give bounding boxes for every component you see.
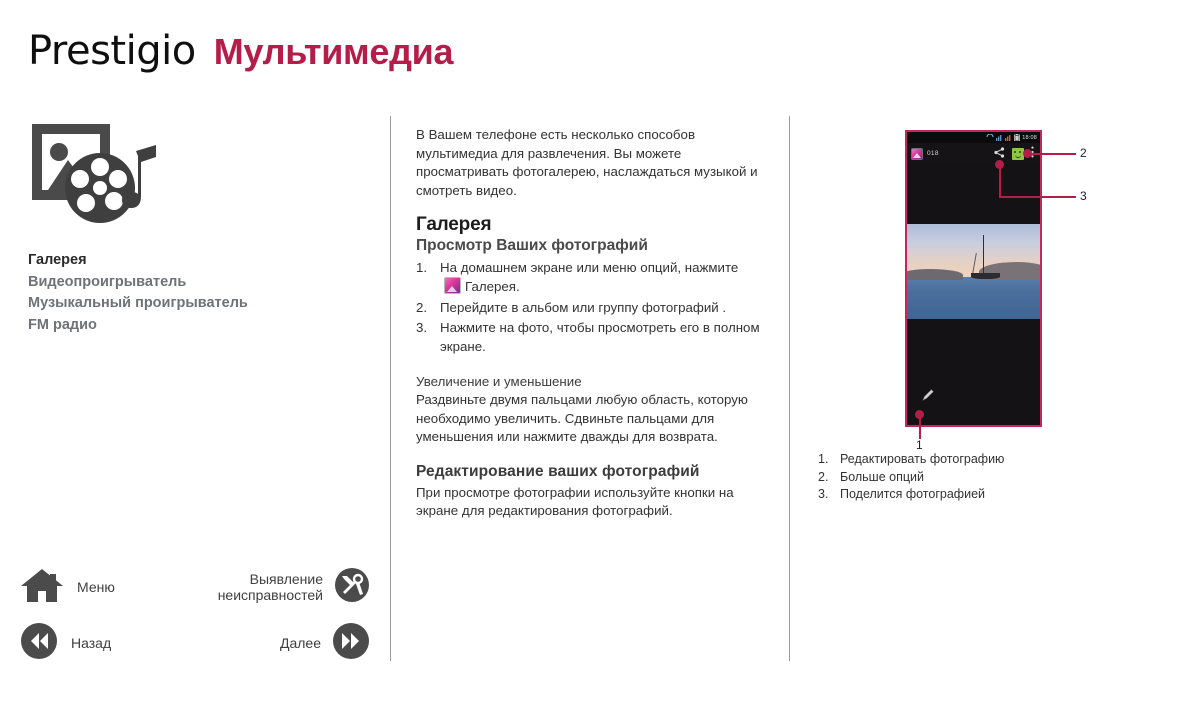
callout-line-2 — [1030, 153, 1076, 155]
signal-icon-2 — [1005, 134, 1012, 141]
next-button[interactable]: Далее — [195, 622, 370, 665]
gallery-icon — [444, 277, 461, 294]
legend-text: Поделится фотографией — [840, 487, 985, 501]
column-divider-right — [789, 116, 790, 661]
step-text-after: Галерея. — [465, 279, 520, 294]
battery-icon — [1014, 134, 1020, 141]
main-content-column: В Вашем телефоне есть несколько способов… — [416, 126, 761, 537]
legend-text: Редактировать фотографию — [840, 452, 1004, 466]
intro-paragraph: В Вашем телефоне есть несколько способов… — [416, 126, 761, 200]
step-number: 2. — [416, 299, 440, 318]
step-text: На домашнем экране или меню опций, нажми… — [440, 259, 761, 297]
step-text-before: На домашнем экране или меню опций, нажми… — [440, 260, 738, 275]
phone-status-bar: 18:08 — [907, 132, 1040, 143]
page-header: Prestigio Мультимедиа — [28, 28, 453, 74]
nav-row-bottom: Назад Далее — [20, 619, 370, 667]
troubleshooting-line2: неисправностей — [218, 587, 323, 603]
photo-viewer[interactable] — [907, 224, 1040, 319]
callout-line-3-vert — [999, 165, 1001, 197]
step-number: 3. — [416, 319, 440, 356]
album-label: 018 — [927, 150, 994, 157]
sync-icon — [986, 134, 994, 141]
edit-heading: Редактирование ваших фотографий — [416, 463, 761, 482]
phone-action-bar: 018 — [907, 143, 1040, 164]
callout-legend: 1. Редактировать фотографию 2. Больше оп… — [818, 452, 1148, 505]
list-item: 2. Больше опций — [818, 470, 1148, 484]
list-item: 3. Поделится фотографией — [818, 487, 1148, 501]
back-button[interactable]: Назад — [20, 622, 195, 665]
gallery-steps-list: 1. На домашнем экране или меню опций, на… — [416, 259, 761, 357]
list-item: 1. На домашнем экране или меню опций, на… — [416, 259, 761, 297]
photo-boat-mast — [983, 235, 984, 275]
page-root: Prestigio Мультимедиа — [0, 0, 1189, 713]
status-time: 18:08 — [1022, 135, 1037, 141]
multimedia-icon — [28, 118, 178, 230]
home-icon — [20, 566, 64, 609]
zoom-paragraph: Раздвиньте двумя пальцами любую область,… — [416, 391, 761, 447]
callout-number-1: 1 — [916, 438, 923, 452]
status-right: 18:08 — [986, 134, 1037, 141]
nav-row-top: Меню Выявление неисправностей — [20, 563, 370, 611]
page-title: Мультимедиа — [214, 31, 454, 73]
callout-number-3: 3 — [1080, 189, 1087, 203]
photo-sea — [907, 277, 1040, 319]
back-label: Назад — [71, 635, 111, 651]
signal-icon — [996, 134, 1003, 141]
toc-item-video-player[interactable]: Видеопроигрыватель — [28, 272, 358, 294]
legend-text: Больше опций — [840, 470, 924, 484]
spacer — [416, 359, 761, 373]
menu-label: Меню — [77, 579, 115, 595]
left-column: Галерея Видеопроигрыватель Музыкальный п… — [28, 118, 358, 336]
step-number: 1. — [416, 259, 440, 297]
list-item: 2. Перейдите в альбом или группу фотогра… — [416, 299, 761, 318]
list-item: 3. Нажмите на фото, чтобы просмотреть ег… — [416, 319, 761, 356]
menu-button[interactable]: Меню — [20, 566, 195, 609]
edit-paragraph: При просмотре фотографии используйте кно… — [416, 484, 761, 521]
legend-number: 3. — [818, 487, 840, 501]
troubleshooting-label: Выявление неисправностей — [218, 571, 323, 603]
toc-item-gallery[interactable]: Галерея — [28, 250, 358, 272]
view-photos-heading: Просмотр Ваших фотографий — [416, 237, 761, 256]
tools-icon — [334, 567, 370, 608]
list-item: 1. Редактировать фотографию — [818, 452, 1148, 466]
legend-number: 1. — [818, 452, 840, 466]
callout-line-1 — [919, 416, 921, 439]
photo-boat-hull — [971, 273, 1000, 279]
gallery-heading: Галерея — [416, 216, 761, 235]
status-left — [910, 135, 986, 141]
bottom-navigation: Меню Выявление неисправностей — [20, 563, 370, 675]
phone-mockup: 18:08 018 — [905, 130, 1042, 427]
gallery-app-icon[interactable] — [911, 148, 923, 160]
pencil-edit-icon[interactable] — [921, 388, 935, 407]
table-of-contents: Галерея Видеопроигрыватель Музыкальный п… — [28, 250, 358, 336]
callout-line-3-horz — [999, 196, 1076, 198]
column-divider-left — [390, 116, 391, 661]
forward-icon — [332, 622, 370, 665]
troubleshooting-line1: Выявление — [250, 571, 323, 587]
next-label: Далее — [280, 635, 321, 651]
brand-logo: Prestigio — [28, 28, 196, 74]
zoom-heading: Увеличение и уменьшение — [416, 373, 761, 392]
troubleshooting-button[interactable]: Выявление неисправностей — [195, 567, 370, 608]
step-text: Перейдите в альбом или группу фотографий… — [440, 299, 761, 318]
back-icon — [20, 622, 58, 665]
phone-screen-body — [907, 164, 1040, 427]
photo-hill-left — [907, 269, 963, 280]
step-text: Нажмите на фото, чтобы просмотреть его в… — [440, 319, 761, 356]
toc-item-music-player[interactable]: Музыкальный проигрыватель — [28, 293, 358, 315]
toc-item-fm-radio[interactable]: FM радио — [28, 315, 358, 337]
legend-number: 2. — [818, 470, 840, 484]
callout-number-2: 2 — [1080, 146, 1087, 160]
